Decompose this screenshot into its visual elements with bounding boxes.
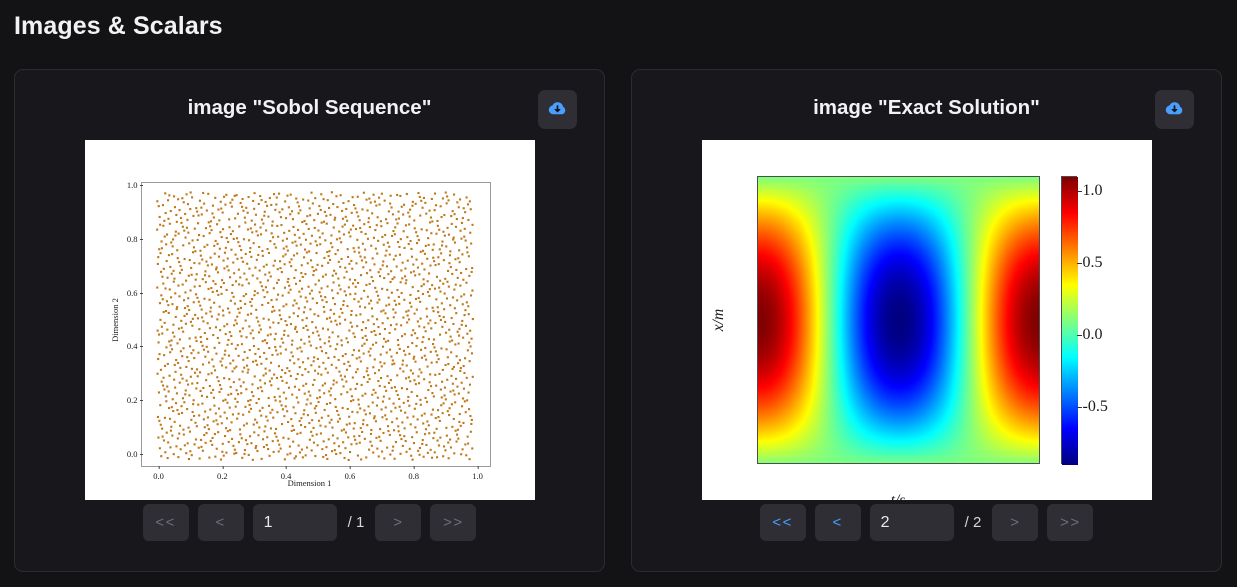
colorbar-gradient	[1062, 177, 1078, 465]
page-number-input[interactable]	[870, 504, 954, 541]
y-tick: 0.8	[127, 234, 138, 244]
image-card-sobol-sequence: image "Sobol Sequence"	[14, 69, 605, 572]
colorbar-tick: 1.0	[1083, 182, 1103, 200]
total-pages-label: / 2	[965, 514, 982, 531]
card-header: image "Exact Solution"	[632, 70, 1221, 140]
y-axis-label: Dimension 2	[109, 298, 119, 342]
pagination-controls: << < / 1 > >>	[15, 504, 604, 541]
image-viewport-exact-solution: 0.0 0.2 0.4 0.6 0.8 1.0 0.0 0.2 0.4 0.6 …	[702, 140, 1152, 500]
previous-page-button[interactable]: <	[815, 504, 861, 541]
last-page-button[interactable]: >>	[1047, 504, 1093, 541]
y-tick: 1.0	[127, 180, 138, 190]
download-button[interactable]	[538, 90, 577, 129]
colorbar-tick: 0.5	[1083, 254, 1103, 272]
previous-page-button[interactable]: <	[198, 504, 244, 541]
card-title: image "Exact Solution"	[632, 96, 1221, 120]
heatmap-plot: 0.0 0.2 0.4 0.6 0.8 1.0 0.0 0.2 0.4 0.6 …	[702, 140, 1152, 500]
plot-frame: 0.0 0.2 0.4 0.6 0.8 1.0 0.0 0.2 0.4 0.6 …	[757, 176, 1040, 464]
page-number-input[interactable]	[253, 504, 337, 541]
x-axis-label: t/s	[757, 492, 1040, 500]
total-pages-label: / 1	[348, 514, 365, 531]
colorbar-tick: -0.5	[1083, 398, 1108, 416]
y-tick: 0.6	[127, 288, 138, 298]
images-and-scalars-page: Images & Scalars image "Sobol Sequence"	[0, 0, 1237, 587]
download-button[interactable]	[1155, 90, 1194, 129]
last-page-button[interactable]: >>	[430, 504, 476, 541]
card-title: image "Sobol Sequence"	[15, 96, 604, 120]
image-viewport-sobol: 0.0 0.2 0.4 0.6 0.8 1.0 0.0 0.2 0.4 0.6 …	[85, 140, 535, 500]
scatter-points	[156, 191, 475, 462]
x-axis-label: Dimension 1	[85, 478, 535, 488]
next-page-button[interactable]: >	[992, 504, 1038, 541]
scatter-plot: 0.0 0.2 0.4 0.6 0.8 1.0 0.0 0.2 0.4 0.6 …	[85, 140, 535, 500]
heatmap-surface	[758, 177, 1040, 464]
first-page-button[interactable]: <<	[143, 504, 189, 541]
page-title: Images & Scalars	[14, 12, 223, 41]
y-tick: 0.2	[127, 395, 138, 405]
cloud-download-icon	[547, 98, 568, 122]
pagination-controls: << < / 2 > >>	[632, 504, 1221, 541]
first-page-button[interactable]: <<	[760, 504, 806, 541]
y-tick: 0.4	[127, 341, 138, 351]
colorbar-tick: 0.0	[1083, 326, 1103, 344]
cloud-download-icon	[1164, 98, 1185, 122]
card-header: image "Sobol Sequence"	[15, 70, 604, 140]
next-page-button[interactable]: >	[375, 504, 421, 541]
cards-container: image "Sobol Sequence"	[14, 69, 1223, 572]
y-axis-label: x/m	[710, 309, 728, 331]
colorbar: 1.0 0.5 0.0 -0.5	[1061, 176, 1077, 464]
plot-frame: 0.0 0.2 0.4 0.6 0.8 1.0 0.0 0.2 0.4 0.6 …	[141, 182, 491, 467]
y-tick: 0.0	[127, 449, 138, 459]
image-card-exact-solution: image "Exact Solution" 0.0 0.2	[631, 69, 1222, 572]
